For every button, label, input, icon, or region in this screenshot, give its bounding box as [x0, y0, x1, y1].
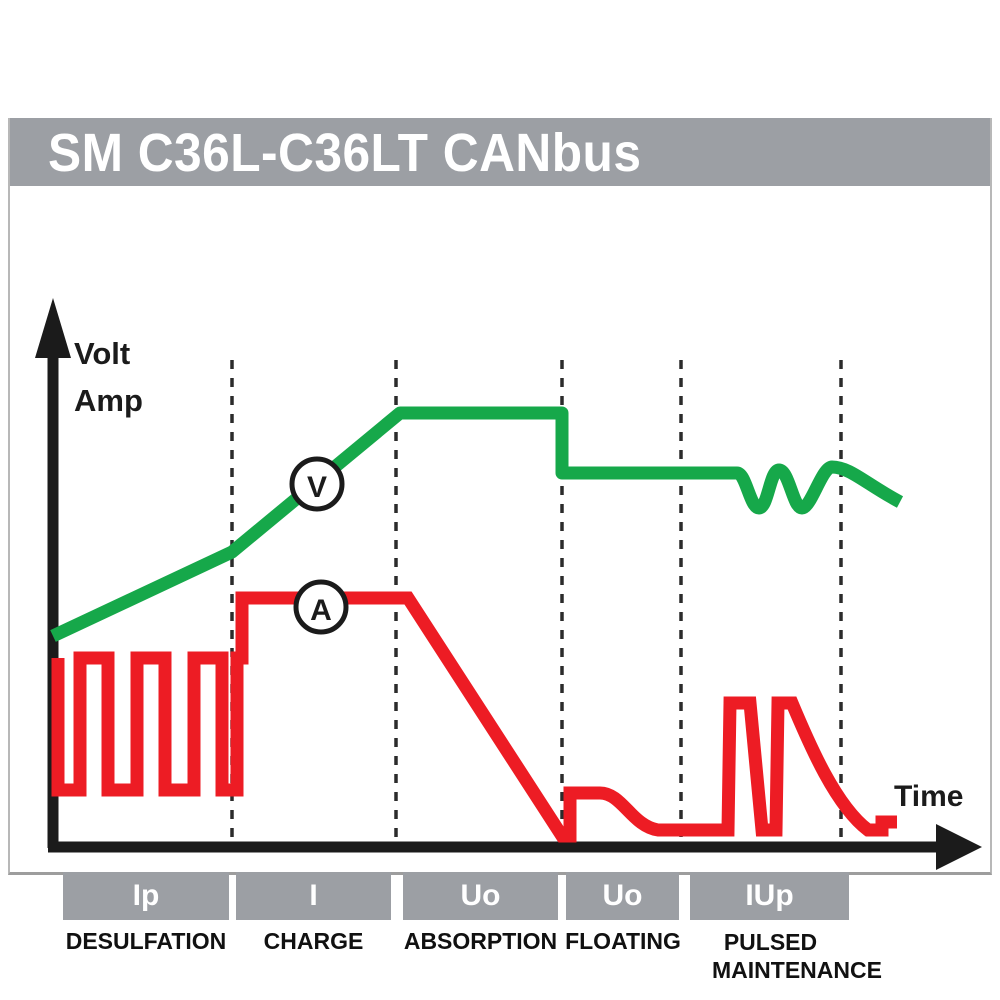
phase-code-desulfation: Ip [133, 879, 160, 913]
phase-box-absorption: Uo [403, 872, 558, 920]
phase-caption-pulsed-maintenance: PULSED MAINTENANCE [698, 928, 843, 984]
plot-area: V A [10, 186, 990, 872]
y-axis-arrow [35, 298, 71, 358]
phase-code-floating: Uo [603, 879, 643, 913]
page-title: SM C36L-C36LT CANbus [48, 122, 641, 184]
phase-code-charge: I [309, 879, 317, 913]
phase-caption-desulfation: DESULFATION [53, 928, 239, 955]
x-axis-arrow [936, 824, 982, 870]
voltage-marker: V [292, 459, 342, 509]
y-axis-title-line1: Volt [74, 330, 143, 377]
phase-box-floating: Uo [566, 872, 679, 920]
x-axis-title: Time [894, 780, 963, 814]
figure-panel: SM C36L-C36LT CANbus [8, 118, 992, 875]
phase-code-pulsed-maintenance: IUp [745, 879, 793, 913]
voltage-marker-label: V [307, 471, 327, 504]
current-curve [58, 598, 897, 836]
phase-box-charge: I [236, 872, 391, 920]
y-axis-title-line2: Amp [74, 377, 143, 424]
phase-box-pulsed-maintenance: IUp [690, 872, 849, 920]
current-marker: A [296, 582, 346, 632]
phase-caption-maintenance: MAINTENANCE [712, 956, 843, 984]
phase-caption-charge: CHARGE [236, 928, 391, 955]
voltage-curve [53, 413, 900, 636]
phase-caption-pulsed: PULSED [698, 928, 843, 956]
title-banner: SM C36L-C36LT CANbus [10, 118, 990, 186]
current-marker-label: A [310, 594, 332, 627]
phase-caption-floating: FLOATING [558, 928, 688, 955]
phase-box-desulfation: Ip [63, 872, 229, 920]
charging-curve-figure: SM C36L-C36LT CANbus [0, 0, 1000, 1000]
phase-code-absorption: Uo [461, 879, 501, 913]
phase-caption-absorption: ABSORPTION [393, 928, 568, 955]
y-axis-title: Volt Amp [74, 330, 143, 424]
